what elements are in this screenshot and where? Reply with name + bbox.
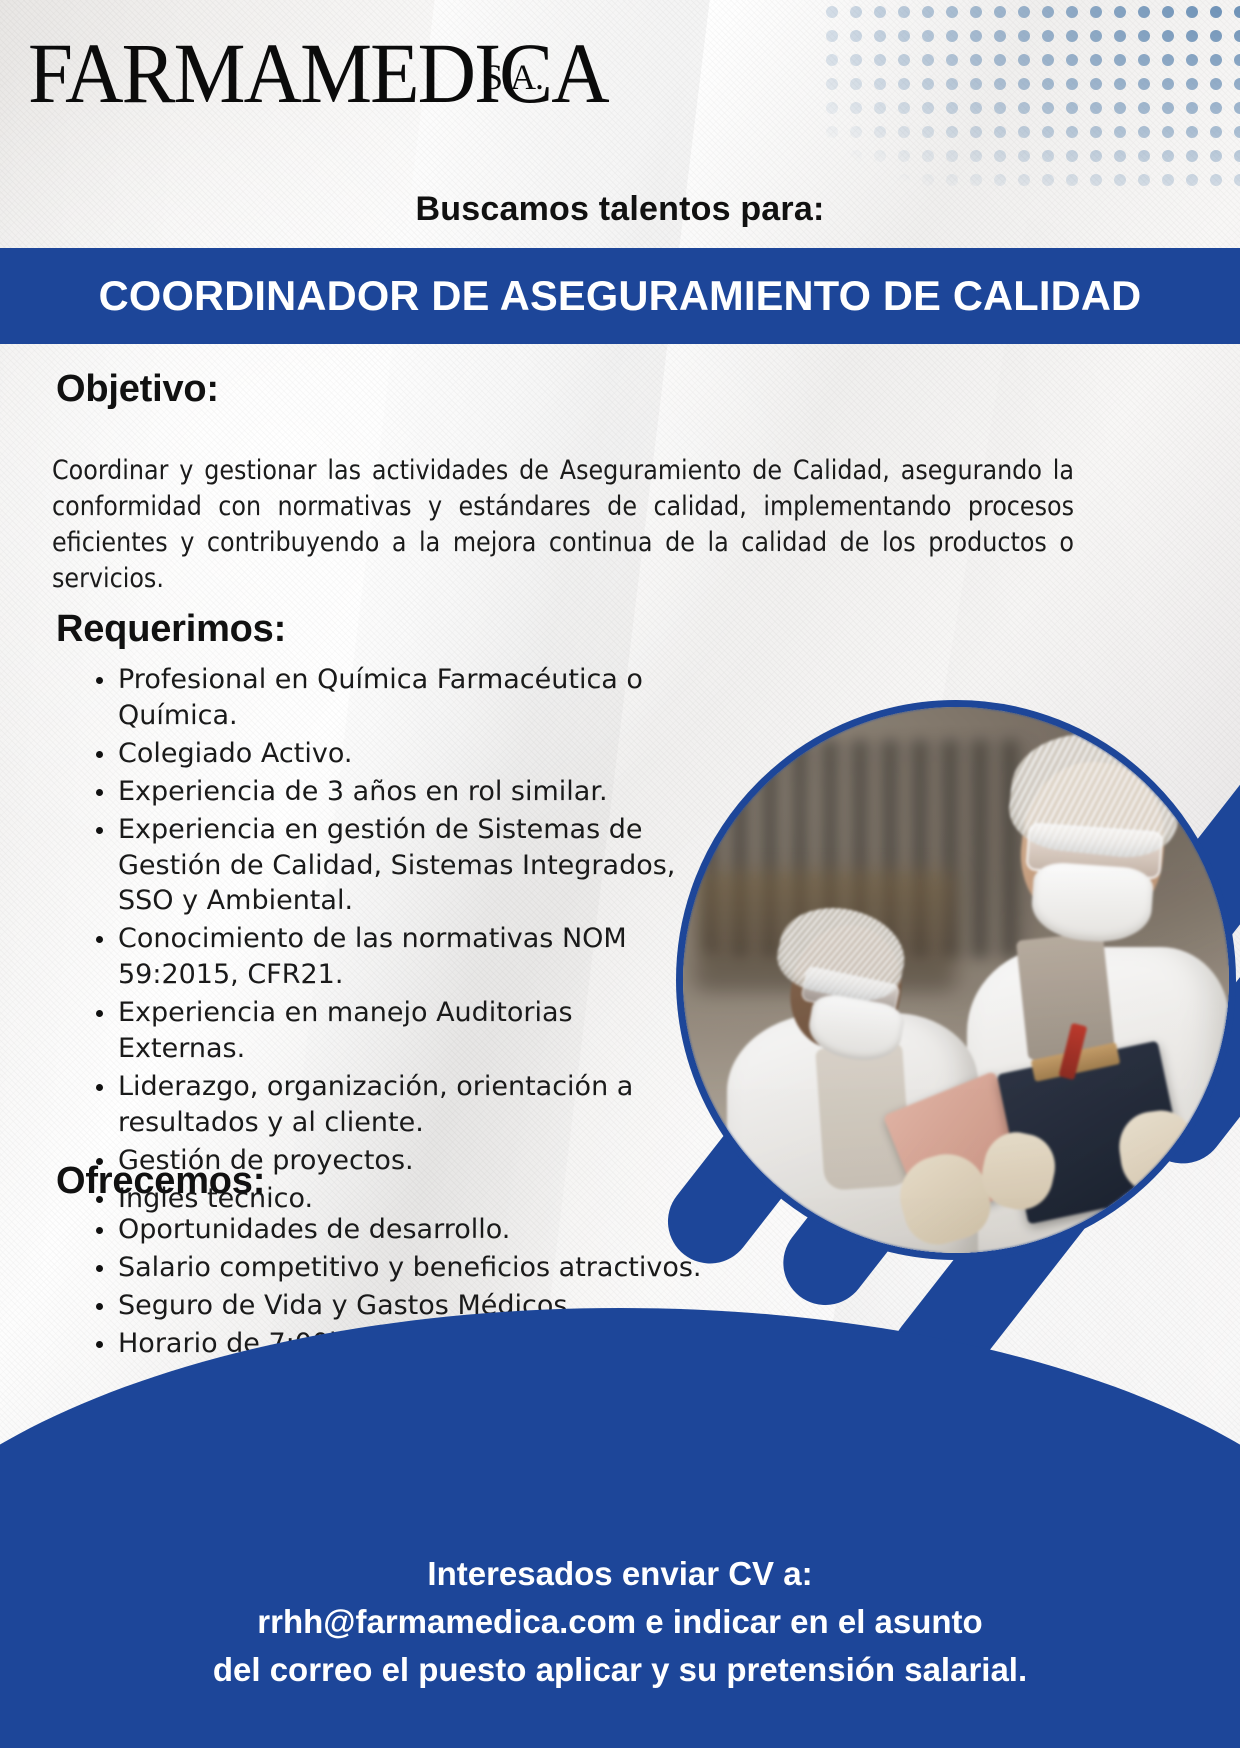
- halftone-dots-decoration: [820, 0, 1240, 190]
- requerimos-heading: Requerimos:: [56, 608, 286, 651]
- requerimos-list: Profesional en Química Farmacéutica o Qu…: [56, 662, 696, 1219]
- job-title: COORDINADOR DE ASEGURAMIENTO DE CALIDAD: [6, 272, 1234, 320]
- list-item: Experiencia en gestión de Sistemas de Ge…: [96, 812, 696, 920]
- list-item: Profesional en Química Farmacéutica o Qu…: [96, 662, 696, 734]
- kicker-text: Buscamos talentos para:: [0, 190, 1240, 229]
- ofrecemos-heading: Ofrecemos:: [56, 1160, 265, 1203]
- team-photo: [676, 700, 1236, 1260]
- footer-line-3: del correo el puesto aplicar y su preten…: [0, 1646, 1240, 1694]
- list-item: Experiencia en manejo Auditorias Externa…: [96, 995, 696, 1067]
- company-logo: FARMAMEDICA S.A.: [28, 30, 548, 140]
- footer-line-2[interactable]: rrhh@farmamedica.com e indicar en el asu…: [0, 1598, 1240, 1646]
- objetivo-heading: Objetivo:: [56, 368, 219, 411]
- photo-man-shirt: [1015, 932, 1114, 1061]
- job-title-band: COORDINADOR DE ASEGURAMIENTO DE CALIDAD: [0, 248, 1240, 344]
- list-item: Oportunidades de desarrollo.: [96, 1212, 816, 1248]
- logo-suffix: S.A.: [483, 56, 543, 98]
- list-item: Experiencia de 3 años en rol similar.: [96, 774, 696, 810]
- footer-line-1: Interesados enviar CV a:: [0, 1550, 1240, 1598]
- list-item: Salario competitivo y beneficios atracti…: [96, 1250, 816, 1286]
- list-item: Conocimiento de las normativas NOM 59:20…: [96, 921, 696, 993]
- logo-wordmark: FARMAMEDICA: [28, 30, 517, 116]
- job-posting-poster: FARMAMEDICA S.A. Buscamos talentos para:…: [0, 0, 1240, 1748]
- footer-contact-text: Interesados enviar CV a: rrhh@farmamedic…: [0, 1550, 1240, 1694]
- list-item: Liderazgo, organización, orientación a r…: [96, 1069, 696, 1141]
- list-item: Colegiado Activo.: [96, 736, 696, 772]
- objetivo-paragraph: Coordinar y gestionar las actividades de…: [52, 453, 1074, 598]
